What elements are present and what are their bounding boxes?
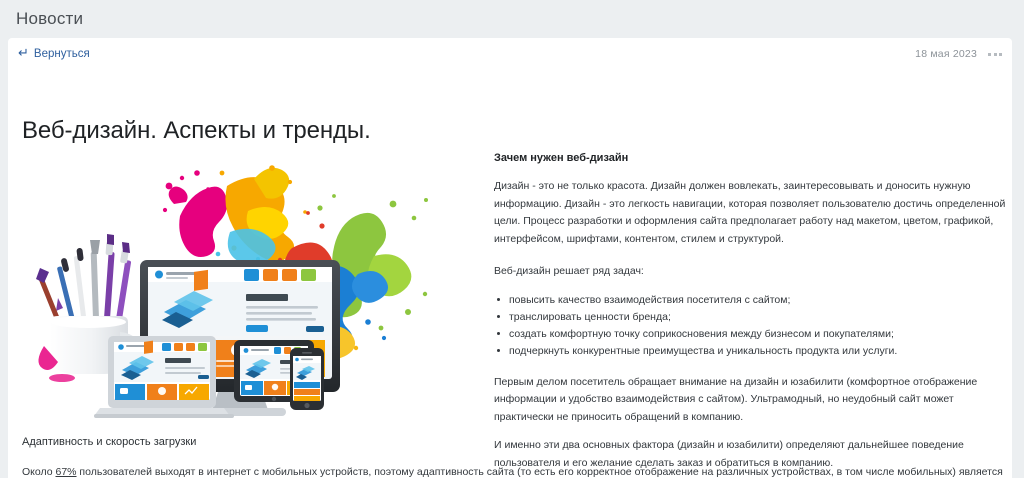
bottom-text-before: Около [22, 466, 56, 478]
section-heading-adaptivity: Адаптивность и скорость загрузки [22, 436, 1012, 448]
bottom-section: Адаптивность и скорость загрузки Около 6… [22, 436, 1012, 478]
tasks-list: повысить качество взаимодействия посетит… [496, 292, 1012, 360]
article-meta: 18 мая 2023 [915, 48, 1002, 60]
paragraph-3: Первым делом посетитель обращает внимани… [494, 374, 1012, 427]
page-title: Новости [16, 9, 83, 29]
percentage-link[interactable]: 67% [56, 466, 77, 478]
paragraph-2: Веб-дизайн решает ряд задач: [494, 263, 1012, 281]
article-title: Веб-дизайн. Аспекты и тренды. [22, 117, 371, 145]
list-item: повысить качество взаимодействия посетит… [496, 292, 1012, 309]
web-design-devices-paint-splash-illustration [22, 156, 462, 421]
laptop [94, 336, 234, 418]
card-header: ↵ Вернуться 18 мая 2023 [8, 38, 1012, 72]
list-item: транслировать ценности бренда; [496, 309, 1012, 326]
paragraph-1: Дизайн - это не только красота. Дизайн д… [494, 178, 1012, 248]
bottom-text-after: пользователей выходят в интернет с мобил… [22, 466, 1012, 478]
article-card: ↵ Вернуться 18 мая 2023 Веб-дизайн. Аспе… [8, 38, 1012, 478]
back-link-label: Вернуться [34, 48, 90, 60]
page-root: Новости ↵ Вернуться 18 мая 2023 Веб-диза… [0, 0, 1024, 478]
bottom-paragraph: Около 67% пользователей выходят в интерн… [22, 464, 1012, 478]
publish-date: 18 мая 2023 [915, 48, 977, 60]
list-item: создать комфортную точку соприкосновения… [496, 326, 1012, 343]
back-link[interactable]: ↵ Вернуться [18, 47, 90, 60]
brushes [36, 234, 131, 329]
paint-splash-magenta [163, 170, 227, 257]
smartphone [290, 348, 324, 410]
return-arrow-icon: ↵ [18, 46, 29, 59]
section-heading-why-webdesign: Зачем нужен веб-дизайн [494, 152, 1012, 164]
more-options-icon[interactable] [988, 53, 1002, 56]
top-bar: Новости [0, 0, 1024, 38]
article-illustration-column [22, 156, 474, 421]
list-item: подчеркнуть конкурентные преимущества и … [496, 343, 1012, 360]
article-text-column: Зачем нужен веб-дизайн Дизайн - это не т… [494, 152, 1012, 478]
